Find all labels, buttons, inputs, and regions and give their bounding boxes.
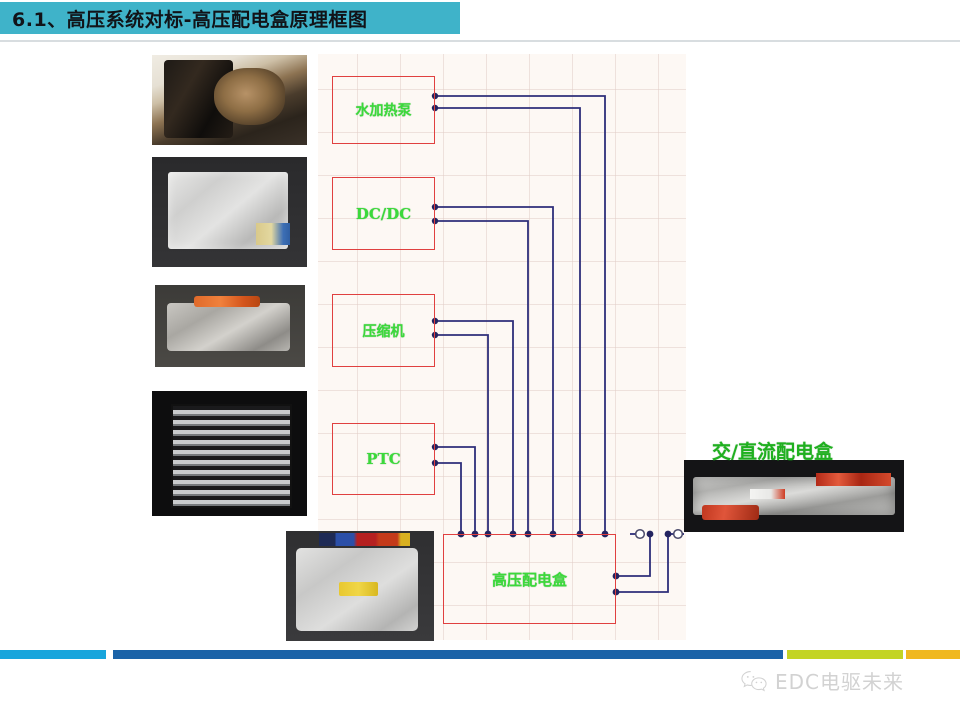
slide-title-bar: 6.1、高压系统对标-高压配电盒原理框图 bbox=[0, 2, 460, 34]
diagram-box-label: 高压配电盒 bbox=[492, 569, 567, 590]
page-title: 6.1、高压系统对标-高压配电盒原理框图 bbox=[0, 5, 368, 32]
water-heater-pump-photo bbox=[152, 55, 307, 145]
diagram-box-label: 压缩机 bbox=[363, 321, 405, 341]
watermark-text: EDC电驱未来 bbox=[775, 666, 904, 695]
title-divider bbox=[0, 40, 960, 42]
diagram-box-label: PTC bbox=[366, 450, 400, 468]
acdc-distribution-box-photo bbox=[684, 460, 904, 532]
acdc-distribution-box-caption: 交/直流配电盒 bbox=[712, 437, 833, 464]
watermark: EDC电驱未来 bbox=[740, 666, 904, 695]
slide-root: 6.1、高压系统对标-高压配电盒原理框图 bbox=[0, 0, 960, 720]
footer-segment-orange bbox=[906, 650, 960, 659]
connector-caps bbox=[319, 533, 411, 546]
footer-segment-light-blue bbox=[0, 650, 106, 659]
diagram-box-hv-distribution[interactable]: 高压配电盒 bbox=[443, 534, 616, 624]
diagram-box-label: DC/DC bbox=[356, 205, 411, 223]
diagram-box-compressor[interactable]: 压缩机 bbox=[332, 294, 435, 367]
red-cable-cluster bbox=[816, 473, 891, 486]
ptc-heater-photo bbox=[152, 391, 307, 516]
diagram-box-label: 水加热泵 bbox=[356, 100, 412, 120]
wechat-icon bbox=[740, 669, 768, 693]
footer-segment-green bbox=[787, 650, 903, 659]
diagram-box-dcdc[interactable]: DC/DC bbox=[332, 177, 435, 250]
dcdc-converter-photo bbox=[152, 157, 307, 267]
footer-segment-dark-blue bbox=[113, 650, 783, 659]
diagram-box-ptc[interactable]: PTC bbox=[332, 423, 435, 495]
white-label bbox=[750, 489, 785, 499]
compressor-photo bbox=[155, 285, 305, 367]
hv-distribution-box-photo bbox=[286, 531, 434, 641]
diagram-box-water-heater-pump[interactable]: 水加热泵 bbox=[332, 76, 435, 144]
